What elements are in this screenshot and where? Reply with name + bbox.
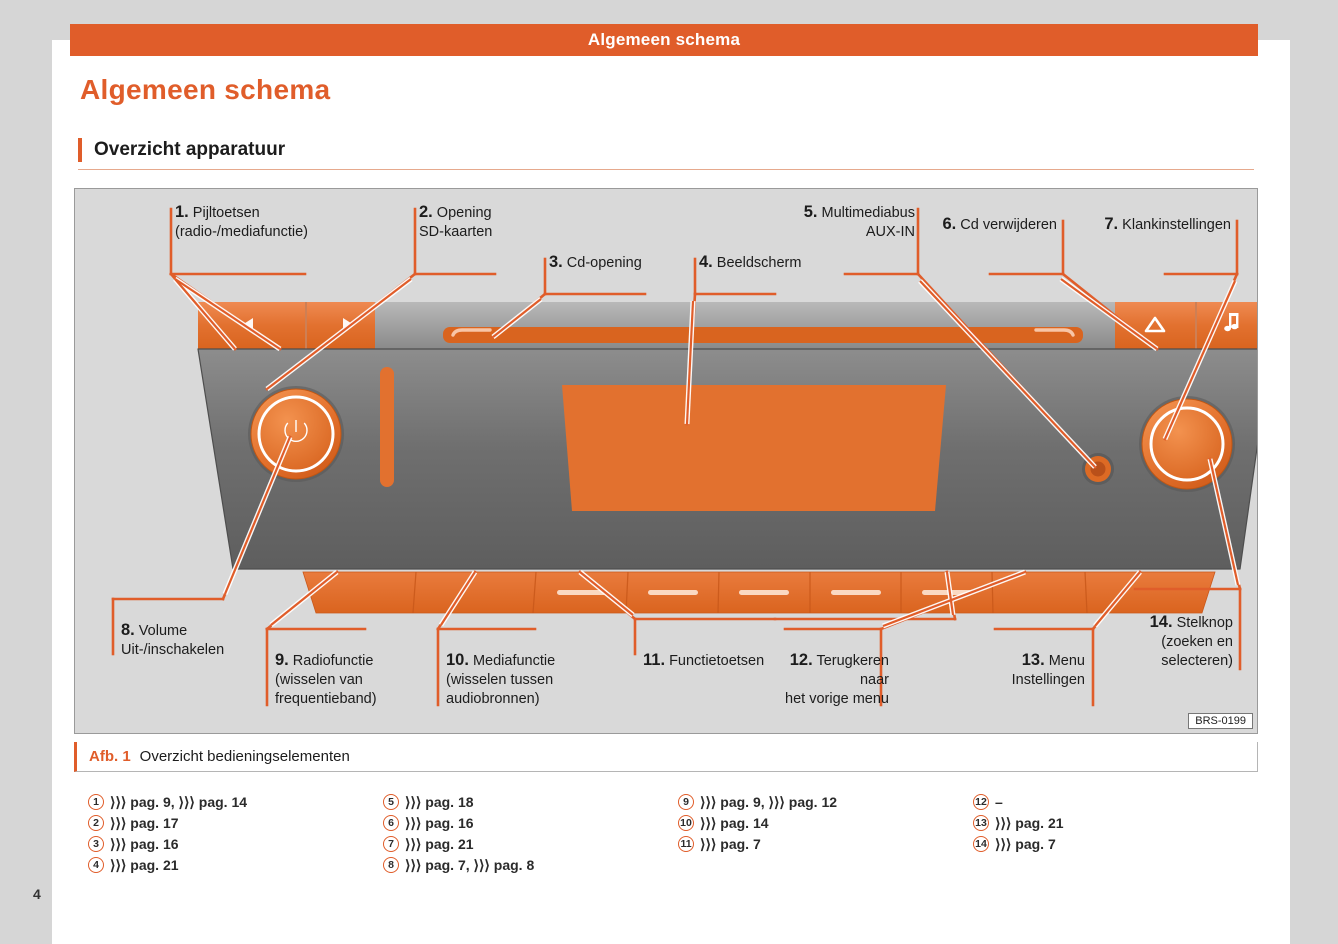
ref-text-11: ⟩⟩⟩ pag. 7 bbox=[700, 836, 761, 853]
volume-power-knob bbox=[248, 386, 344, 482]
callout-label-2: 2. Opening SD-kaarten bbox=[419, 203, 492, 242]
ref-text-2: ⟩⟩⟩ pag. 17 bbox=[110, 815, 179, 832]
reference-column-1: 1⟩⟩⟩ pag. 9, ⟩⟩⟩ pag. 14 2⟩⟩⟩ pag. 17 3⟩… bbox=[88, 792, 383, 876]
sd-card-slot bbox=[380, 367, 394, 487]
list-item[interactable]: 2⟩⟩⟩ pag. 17 bbox=[88, 813, 383, 833]
ref-bubble-7: 7 bbox=[383, 836, 399, 852]
list-item[interactable]: 1⟩⟩⟩ pag. 9, ⟩⟩⟩ pag. 14 bbox=[88, 792, 383, 812]
right-top-keys-group bbox=[1115, 302, 1257, 349]
callout-label-10: 10. Mediafunctie (wisselen tussen audiob… bbox=[446, 651, 555, 709]
callout-label-1: 1. Pijltoetsen (radio-/mediafunctie) bbox=[175, 203, 308, 242]
callout-label-7: 7. Klankinstellingen bbox=[1005, 215, 1231, 235]
callout-label-9: 9. Radiofunctie (wisselen van frequentie… bbox=[275, 651, 377, 709]
ref-text-9: ⟩⟩⟩ pag. 9, ⟩⟩⟩ pag. 12 bbox=[700, 794, 837, 811]
reference-column-3: 9⟩⟩⟩ pag. 9, ⟩⟩⟩ pag. 12 10⟩⟩⟩ pag. 14 1… bbox=[678, 792, 973, 876]
display-screen bbox=[562, 385, 946, 511]
list-item[interactable]: 7⟩⟩⟩ pag. 21 bbox=[383, 834, 678, 854]
ref-text-4: ⟩⟩⟩ pag. 21 bbox=[110, 857, 179, 874]
ref-text-7: ⟩⟩⟩ pag. 21 bbox=[405, 836, 474, 853]
ref-text-6: ⟩⟩⟩ pag. 16 bbox=[405, 815, 474, 832]
list-item[interactable]: 11⟩⟩⟩ pag. 7 bbox=[678, 834, 973, 854]
ref-text-3: ⟩⟩⟩ pag. 16 bbox=[110, 836, 179, 853]
cd-slot bbox=[443, 327, 1083, 343]
list-item[interactable]: 6⟩⟩⟩ pag. 16 bbox=[383, 813, 678, 833]
running-header-title: Algemeen schema bbox=[588, 30, 740, 50]
figure-label: Afb. 1 bbox=[89, 748, 131, 765]
list-item[interactable]: 8⟩⟩⟩ pag. 7, ⟩⟩⟩ pag. 8 bbox=[383, 855, 678, 875]
reference-column-2: 5⟩⟩⟩ pag. 18 6⟩⟩⟩ pag. 16 7⟩⟩⟩ pag. 21 8… bbox=[383, 792, 678, 876]
reference-column-4: 12– 13⟩⟩⟩ pag. 21 14⟩⟩⟩ pag. 7 bbox=[973, 792, 1268, 876]
bottom-button-row bbox=[303, 572, 1215, 613]
page-title: Algemeen schema bbox=[80, 74, 330, 106]
ref-text-13: ⟩⟩⟩ pag. 21 bbox=[995, 815, 1064, 832]
ref-text-14: ⟩⟩⟩ pag. 7 bbox=[995, 836, 1056, 853]
running-header: Algemeen schema bbox=[70, 24, 1258, 56]
callout-label-14: 14. Stelknop (zoeken en selecteren) bbox=[1115, 613, 1233, 671]
callout-label-8: 8. Volume Uit-/inschakelen bbox=[121, 621, 224, 660]
ref-text-10: ⟩⟩⟩ pag. 14 bbox=[700, 815, 769, 832]
ref-bubble-5: 5 bbox=[383, 794, 399, 810]
section-divider bbox=[78, 169, 1254, 170]
section-heading: Overzicht apparatuur bbox=[78, 138, 1258, 162]
ref-bubble-14: 14 bbox=[973, 836, 989, 852]
ref-bubble-8: 8 bbox=[383, 857, 399, 873]
page-number: 4 bbox=[33, 886, 41, 902]
callout-label-13: 13. Menu Instellingen bbox=[975, 651, 1085, 690]
manual-page: Algemeen schema Algemeen schema Overzich… bbox=[0, 0, 1338, 944]
list-item[interactable]: 12– bbox=[973, 792, 1268, 812]
list-item[interactable]: 14⟩⟩⟩ pag. 7 bbox=[973, 834, 1268, 854]
callout-label-12: 12. Terugkeren naar het vorige menu bbox=[765, 651, 889, 709]
callout-label-3: 3. Cd-opening bbox=[549, 253, 642, 273]
list-item[interactable]: 5⟩⟩⟩ pag. 18 bbox=[383, 792, 678, 812]
ref-text-5: ⟩⟩⟩ pag. 18 bbox=[405, 794, 474, 811]
ref-bubble-3: 3 bbox=[88, 836, 104, 852]
ref-bubble-10: 10 bbox=[678, 815, 694, 831]
ref-text-8: ⟩⟩⟩ pag. 7, ⟩⟩⟩ pag. 8 bbox=[405, 857, 534, 874]
tuning-knob bbox=[1139, 396, 1235, 492]
ref-text-12: – bbox=[995, 794, 1003, 810]
ref-bubble-9: 9 bbox=[678, 794, 694, 810]
reference-list: 1⟩⟩⟩ pag. 9, ⟩⟩⟩ pag. 14 2⟩⟩⟩ pag. 17 3⟩… bbox=[88, 792, 1268, 876]
figure-code: BRS-0199 bbox=[1188, 713, 1253, 729]
list-item[interactable]: 13⟩⟩⟩ pag. 21 bbox=[973, 813, 1268, 833]
figure-caption-text: Overzicht bedieningselementen bbox=[140, 748, 350, 765]
list-item[interactable]: 4⟩⟩⟩ pag. 21 bbox=[88, 855, 383, 875]
ref-bubble-12: 12 bbox=[973, 794, 989, 810]
figure-panel: RADIO MEDIA BACK SETUP 1. Pijltoetsen (r… bbox=[74, 188, 1258, 734]
ref-bubble-13: 13 bbox=[973, 815, 989, 831]
ref-bubble-11: 11 bbox=[678, 836, 694, 852]
figure-caption: Afb. 1 Overzicht bedieningselementen bbox=[74, 742, 1258, 772]
ref-text-1: ⟩⟩⟩ pag. 9, ⟩⟩⟩ pag. 14 bbox=[110, 794, 247, 811]
ref-bubble-1: 1 bbox=[88, 794, 104, 810]
ref-bubble-6: 6 bbox=[383, 815, 399, 831]
callout-label-11: 11. Functietoetsen bbox=[643, 651, 764, 671]
callout-label-4: 4. Beeldscherm bbox=[699, 253, 801, 273]
ref-bubble-2: 2 bbox=[88, 815, 104, 831]
list-item[interactable]: 10⟩⟩⟩ pag. 14 bbox=[678, 813, 973, 833]
ref-bubble-4: 4 bbox=[88, 857, 104, 873]
list-item[interactable]: 3⟩⟩⟩ pag. 16 bbox=[88, 834, 383, 854]
section-heading-wrap: Overzicht apparatuur bbox=[78, 138, 1258, 170]
list-item[interactable]: 9⟩⟩⟩ pag. 9, ⟩⟩⟩ pag. 12 bbox=[678, 792, 973, 812]
